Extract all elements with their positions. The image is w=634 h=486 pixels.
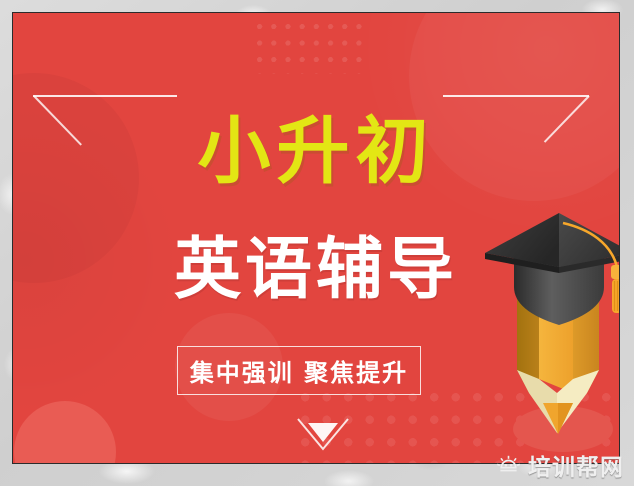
tagline-box: 集中强训 聚焦提升 bbox=[177, 346, 421, 395]
bracket-horizontal-line bbox=[443, 95, 589, 97]
promo-poster: 小升初 英语辅导 集中强训 聚焦提升 bbox=[12, 12, 620, 464]
bracket-horizontal-line bbox=[33, 95, 177, 97]
sun-smiley-icon bbox=[496, 455, 521, 481]
pencil-with-graduation-cap-illustration bbox=[477, 207, 620, 459]
dot-grid-top bbox=[257, 24, 369, 74]
watermark: 培训帮网 bbox=[490, 453, 630, 484]
watermark-text: 培训帮网 bbox=[528, 457, 624, 480]
chevron-down-icon bbox=[295, 415, 351, 457]
tagline-text: 集中强训 聚焦提升 bbox=[190, 353, 408, 388]
headline-primary: 小升初 bbox=[13, 115, 619, 188]
screenshot-canvas: 小升初 英语辅导 集中强训 聚焦提升 bbox=[0, 0, 634, 486]
decor-circle-bottom-left bbox=[14, 401, 116, 464]
